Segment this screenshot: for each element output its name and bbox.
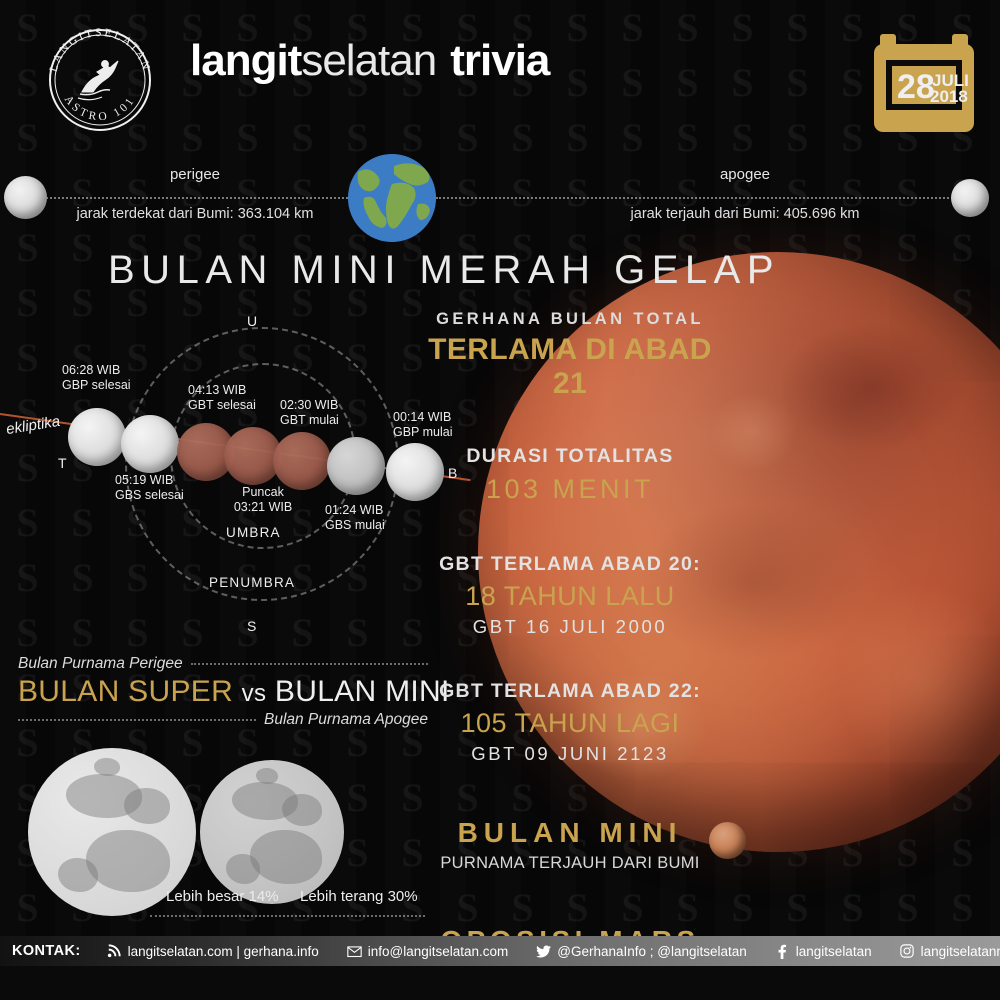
century20-date: GBT 16 JULI 2000 bbox=[420, 616, 720, 638]
brand-part-3: trivia bbox=[450, 36, 549, 85]
brand-part-1: langit bbox=[190, 36, 301, 85]
footer-item-facebook[interactable]: langitselatan bbox=[775, 944, 900, 959]
phase-time: 04:13 WIB bbox=[188, 383, 256, 398]
footer-item-text: langitselatan bbox=[796, 944, 872, 959]
earth-icon bbox=[348, 154, 436, 242]
contact-footer: KONTAK: langitselatan.com | gerhana.info… bbox=[0, 936, 1000, 966]
peak-time: 03:21 WIB bbox=[228, 500, 298, 515]
century22-date: GBT 09 JUNI 2123 bbox=[420, 743, 720, 765]
perigee-label: perigee bbox=[90, 166, 300, 183]
facebook-icon bbox=[775, 944, 790, 959]
duration-value: 103 MENIT bbox=[420, 474, 720, 505]
comparison-title: BULAN SUPER vs BULAN MINI bbox=[18, 675, 428, 709]
axis-east-label: T bbox=[58, 455, 67, 471]
footer-item-email[interactable]: info@langitselatan.com bbox=[347, 944, 537, 959]
facts-column: GERHANA BULAN TOTAL TERLAMA DI ABAD 21 D… bbox=[420, 310, 720, 981]
phase-label-gbt-selesai: 04:13 WIB GBT selesai bbox=[188, 383, 256, 413]
brand-title: langitselatantrivia bbox=[190, 36, 549, 86]
mars-planet-icon bbox=[709, 822, 746, 859]
phase-event: GBP selesai bbox=[62, 378, 131, 393]
twitter-icon bbox=[536, 944, 551, 959]
caption-rule-bottom bbox=[18, 719, 256, 721]
minimoon-subtitle: PURNAMA TERJAUH DARI BUMI bbox=[420, 854, 720, 873]
eclipse-moon-gbs-selesai bbox=[121, 415, 179, 473]
penumbra-label: PENUMBRA bbox=[209, 575, 295, 590]
perigee-fullmoon-caption: Bulan Purnama Perigee bbox=[18, 655, 183, 673]
rss-icon bbox=[107, 944, 122, 959]
phase-event: GBT mulai bbox=[280, 413, 339, 428]
century20-label: GBT TERLAMA ABAD 20: bbox=[420, 553, 720, 576]
infographic-page: SSSSSSSSSSSSSSSSSSSSSSSSSSSSSSSSSSSSSSSS… bbox=[0, 0, 1000, 1000]
eclipse-moon-gbt-mulai bbox=[273, 432, 331, 490]
phase-event: GBS mulai bbox=[325, 518, 385, 533]
minimoon-disc bbox=[200, 760, 344, 904]
footer-item-instagram[interactable]: langitselatanmedia bbox=[900, 944, 1000, 959]
eclipse-eyebrow: GERHANA BULAN TOTAL bbox=[420, 310, 720, 329]
eclipse-headline: TERLAMA DI ABAD 21 bbox=[420, 333, 720, 401]
umbra-label: UMBRA bbox=[226, 525, 281, 540]
phase-label-gbt-mulai: 02:30 WIB GBT mulai bbox=[280, 398, 339, 428]
orbit-distance-band: perigee jarak terdekat dari Bumi: 363.10… bbox=[0, 150, 1000, 255]
caption-rule-top bbox=[191, 663, 428, 665]
page-title: BULAN MINI MERAH GELAP bbox=[108, 248, 780, 293]
calendar-year: 2018 bbox=[930, 87, 968, 106]
footer-item-website[interactable]: langitselatan.com | gerhana.info bbox=[107, 944, 347, 959]
phase-label-gbp-selesai: 06:28 WIB GBP selesai bbox=[62, 363, 131, 393]
phase-label-gbs-selesai: 05:19 WIB GBS selesai bbox=[115, 473, 184, 503]
apogee-fullmoon-caption: Bulan Purnama Apogee bbox=[264, 711, 428, 729]
footer-item-text: info@langitselatan.com bbox=[368, 944, 509, 959]
apogee-moon-icon bbox=[951, 179, 989, 217]
eclipse-moon-gbs-mulai bbox=[327, 437, 385, 495]
phase-label-gbs-mulai: 01:24 WIB GBS mulai bbox=[325, 503, 385, 533]
apogee-dotline bbox=[436, 197, 956, 199]
bottom-bar bbox=[0, 966, 1000, 1000]
kontak-label: KONTAK: bbox=[0, 943, 107, 959]
peak-title: Puncak bbox=[228, 485, 298, 500]
supermoon-vs-minimoon-section: Bulan Purnama Perigee BULAN SUPER vs BUL… bbox=[18, 655, 428, 729]
minimoon-title: BULAN MINI bbox=[420, 817, 720, 849]
phase-time: 01:24 WIB bbox=[325, 503, 385, 518]
century20-value: 18 TAHUN LALU bbox=[420, 581, 720, 612]
email-icon bbox=[347, 944, 362, 959]
phase-event: GBS selesai bbox=[115, 488, 184, 503]
footer-item-twitter[interactable]: @GerhanaInfo ; @langitselatan bbox=[536, 944, 775, 959]
duration-label: DURASI TOTALITAS bbox=[420, 445, 720, 468]
langitselatan-logo: LANGITSELATAN ASTRO 101 bbox=[42, 22, 158, 138]
phase-time: 02:30 WIB bbox=[280, 398, 339, 413]
comparison-title-vs: vs bbox=[242, 680, 267, 707]
footer-item-text: @GerhanaInfo ; @langitselatan bbox=[557, 944, 747, 959]
eclipse-diagram: ekliptika U S T B 06:28 WIB GBP selesai … bbox=[0, 305, 470, 645]
apogee-label: apogee bbox=[640, 166, 850, 183]
phase-time: 06:28 WIB bbox=[62, 363, 131, 378]
comparison-title-left: BULAN SUPER bbox=[18, 675, 233, 708]
eclipse-moon-gbp-selesai bbox=[68, 408, 126, 466]
axis-north-label: U bbox=[247, 313, 257, 329]
axis-south-label: S bbox=[247, 618, 256, 634]
stat-brightness: Lebih terang 30% bbox=[300, 888, 418, 905]
calendar-icon: 28 JULI 2018 bbox=[870, 26, 978, 138]
svg-text:LANGITSELATAN: LANGITSELATAN bbox=[48, 27, 153, 73]
perigee-dotline bbox=[42, 197, 348, 199]
brand-part-2: selatan bbox=[301, 36, 436, 85]
peak-label: Puncak 03:21 WIB bbox=[228, 485, 298, 515]
century22-value: 105 TAHUN LAGI bbox=[420, 708, 720, 739]
footer-item-text: langitselatan.com | gerhana.info bbox=[128, 944, 319, 959]
perigee-value: jarak terdekat dari Bumi: 363.104 km bbox=[40, 206, 350, 222]
apogee-value: jarak terjauh dari Bumi: 405.696 km bbox=[570, 206, 920, 222]
comparison-stats-rule bbox=[150, 915, 425, 917]
footer-item-text: langitselatanmedia bbox=[921, 944, 1000, 959]
stat-size-bigger: Lebih besar 14% bbox=[166, 888, 279, 905]
phase-time: 05:19 WIB bbox=[115, 473, 184, 488]
phase-event: GBT selesai bbox=[188, 398, 256, 413]
instagram-icon bbox=[900, 944, 915, 959]
century22-label: GBT TERLAMA ABAD 22: bbox=[420, 680, 720, 703]
